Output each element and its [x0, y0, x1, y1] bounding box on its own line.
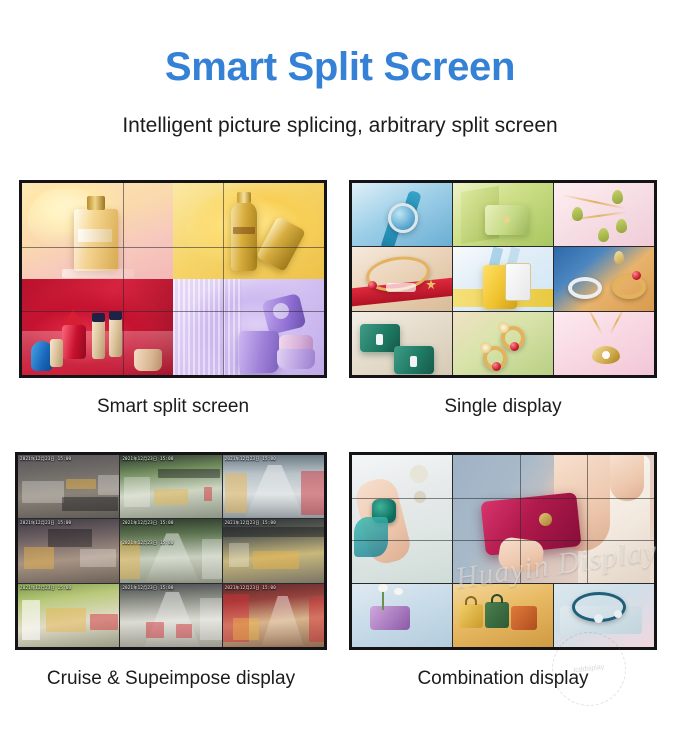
feature-panel-grid: Smart split screen — [0, 180, 680, 720]
cctv-timestamp: 2021年12月23日 15:00 — [20, 585, 117, 591]
cctv-timestamp: 2021年12月23日 15:00 — [225, 520, 322, 526]
cctv-timestamp: 2021年12月23日 15:00 — [122, 585, 219, 591]
tile-perfume-bottle-gold — [22, 183, 173, 279]
cctv-timestamp: 2021年12月23日 15:00 — [20, 456, 117, 462]
tile-coloured-mini-handbags — [453, 584, 553, 647]
panel-cruise-superimpose-display[interactable]: 2021年12月23日 15:00 2021年12月23日 15:00 202 — [15, 452, 327, 691]
tile-gold-leaf-necklaces — [554, 183, 654, 246]
panel-caption-single-display: Single display — [349, 395, 657, 419]
tile-supermarket-aisle-cam-2: 2021年12月23日 15:00 — [120, 455, 221, 518]
tile-green-clutch-bag — [453, 183, 553, 246]
cctv-timestamp: 2021年12月23日 15:00 — [225, 456, 322, 462]
video-wall-smart-split-screen — [19, 180, 327, 378]
tile-supermarket-aisle-cam-7: 2021年12月23日 15:00 — [18, 584, 119, 647]
tile-supermarket-aisle-cam-4: 2021年12月23日 15:00 — [18, 519, 119, 582]
page-subtitle: Intelligent picture splicing, arbitrary … — [0, 112, 680, 140]
tile-diamond-bangle-rings — [554, 247, 654, 310]
cctv-timestamp: 2021年12月23日 15:00 — [20, 520, 117, 526]
tile-gold-pendant-necklace — [554, 312, 654, 375]
panel-caption-cruise-superimpose-display: Cruise & Supeimpose display — [15, 667, 327, 691]
tile-purple-skincare-jars — [173, 279, 324, 375]
video-wall-content-2x2-split — [22, 183, 324, 375]
cctv-timestamp: 2021年12月23日 15:00 — [122, 456, 219, 462]
panel-caption-combination-display: Combination display — [349, 667, 657, 691]
panel-combination-display[interactable]: Combination display — [349, 452, 661, 691]
cctv-timestamp: 2021年12月23日 15:00 — [225, 585, 322, 591]
video-wall-combination-display — [349, 452, 657, 650]
video-wall-content-combination — [352, 455, 654, 647]
tile-supermarket-aisle-cam-9: 2021年12月23日 15:00 — [223, 584, 324, 647]
tile-teal-quilted-handbags — [352, 312, 452, 375]
video-wall-cruise-superimpose: 2021年12月23日 15:00 2021年12月23日 15:00 202 — [15, 452, 327, 650]
tile-charm-bracelet-gift-box — [554, 584, 654, 647]
tile-supermarket-aisle-cam-1: 2021年12月23日 15:00 — [18, 455, 119, 518]
tile-red-christmas-cosmetics-set — [22, 279, 173, 375]
tile-supermarket-aisle-cam-5: 2021年12月23日 15:00 2021年12月23日 15:00 — [120, 519, 221, 582]
panel-single-display[interactable]: Single display — [349, 180, 661, 419]
tile-supermarket-aisle-cam-3: 2021年12月23日 15:00 — [223, 455, 324, 518]
tile-woman-holding-pink-wallet — [453, 455, 654, 583]
tile-gold-serum-pump-bottle — [173, 183, 324, 279]
panel-smart-split-screen[interactable]: Smart split screen — [19, 180, 331, 419]
video-wall-content-cctv-nine-up: 2021年12月23日 15:00 2021年12月23日 15:00 202 — [18, 455, 324, 647]
tile-blue-wristwatch-snow — [352, 183, 452, 246]
tile-supermarket-aisle-cam-8: 2021年12月23日 15:00 — [120, 584, 221, 647]
tile-purple-clutch-with-flowers — [352, 584, 452, 647]
tile-gold-love-bracelet — [352, 247, 452, 310]
page-title: Smart Split Screen — [0, 44, 680, 90]
video-wall-single-display — [349, 180, 657, 378]
panel-caption-smart-split-screen: Smart split screen — [19, 395, 327, 419]
video-wall-content-nine-up — [352, 183, 654, 375]
cctv-timestamp-superimposed: 2021年12月23日 15:00 — [122, 540, 219, 546]
tile-smartwatch-on-wrist — [352, 455, 452, 583]
tile-gold-hoop-earrings — [453, 312, 553, 375]
tile-supermarket-aisle-cam-6: 2021年12月23日 15:00 — [223, 519, 324, 582]
cctv-timestamp: 2021年12月23日 15:00 — [122, 520, 219, 526]
smart-split-screen-page: Smart Split Screen Intelligent picture s… — [0, 0, 680, 754]
tile-yellow-wallet-stripes — [453, 247, 553, 310]
